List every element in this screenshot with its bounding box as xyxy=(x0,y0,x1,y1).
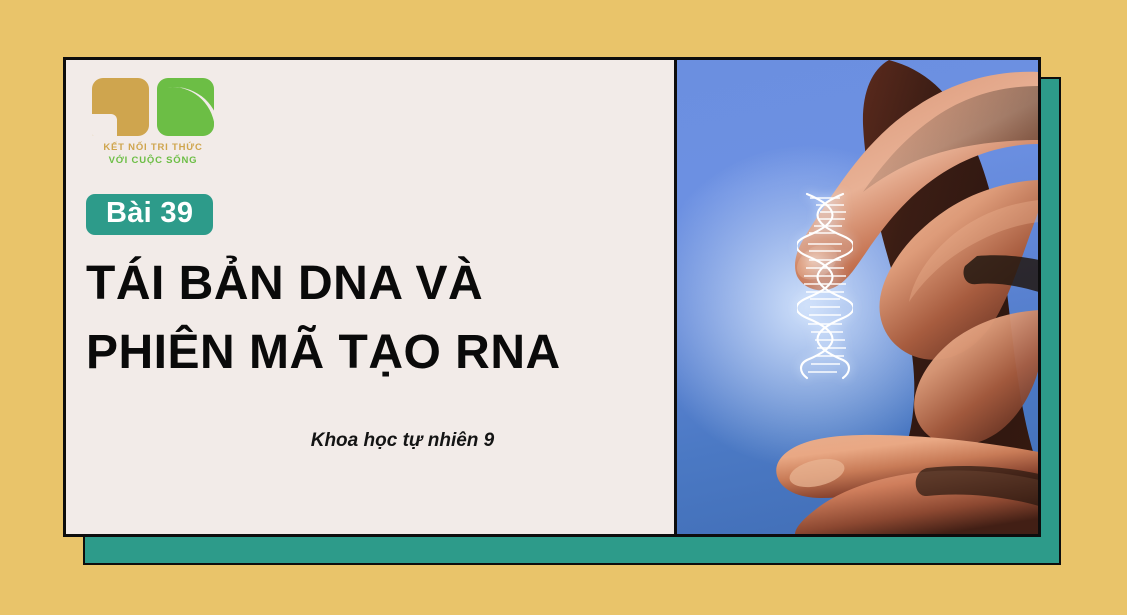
logo-text-block: KẾT NỐI TRI THỨC VỚI CUỘC SỐNG xyxy=(86,141,220,167)
slide-stage: KẾT NỐI TRI THỨC VỚI CUỘC SỐNG Bài 39 TÁ… xyxy=(0,0,1127,615)
page-subtitle: Khoa học tự nhiên 9 xyxy=(66,430,679,452)
logo-divider xyxy=(149,76,157,138)
hand-holding-dna-image xyxy=(677,60,1038,534)
dna-helix-icon xyxy=(797,192,853,382)
page-title: TÁI BẢN DNA VÀ PHIÊN MÃ TẠO RNA xyxy=(86,249,666,387)
logo-leaf-shape-icon xyxy=(157,78,214,136)
logo-tagline-line2: VỚI CUỘC SỐNG xyxy=(86,154,220,167)
logo-book-shape-icon xyxy=(92,78,149,136)
logo-mark-icon xyxy=(92,78,214,136)
slide-card: KẾT NỐI TRI THỨC VỚI CUỘC SỐNG Bài 39 TÁ… xyxy=(63,57,1041,537)
logo-tagline-line1: KẾT NỐI TRI THỨC xyxy=(86,141,220,154)
publisher-logo: KẾT NỐI TRI THỨC VỚI CUỘC SỐNG xyxy=(86,78,226,167)
content-panel: KẾT NỐI TRI THỨC VỚI CUỘC SỐNG Bài 39 TÁ… xyxy=(66,60,677,534)
lesson-number-badge: Bài 39 xyxy=(86,194,213,235)
page-title-line-1: TÁI BẢN DNA VÀ xyxy=(86,249,666,318)
illustration-panel xyxy=(677,60,1038,534)
page-title-line-2: PHIÊN MÃ TẠO RNA xyxy=(86,318,666,387)
